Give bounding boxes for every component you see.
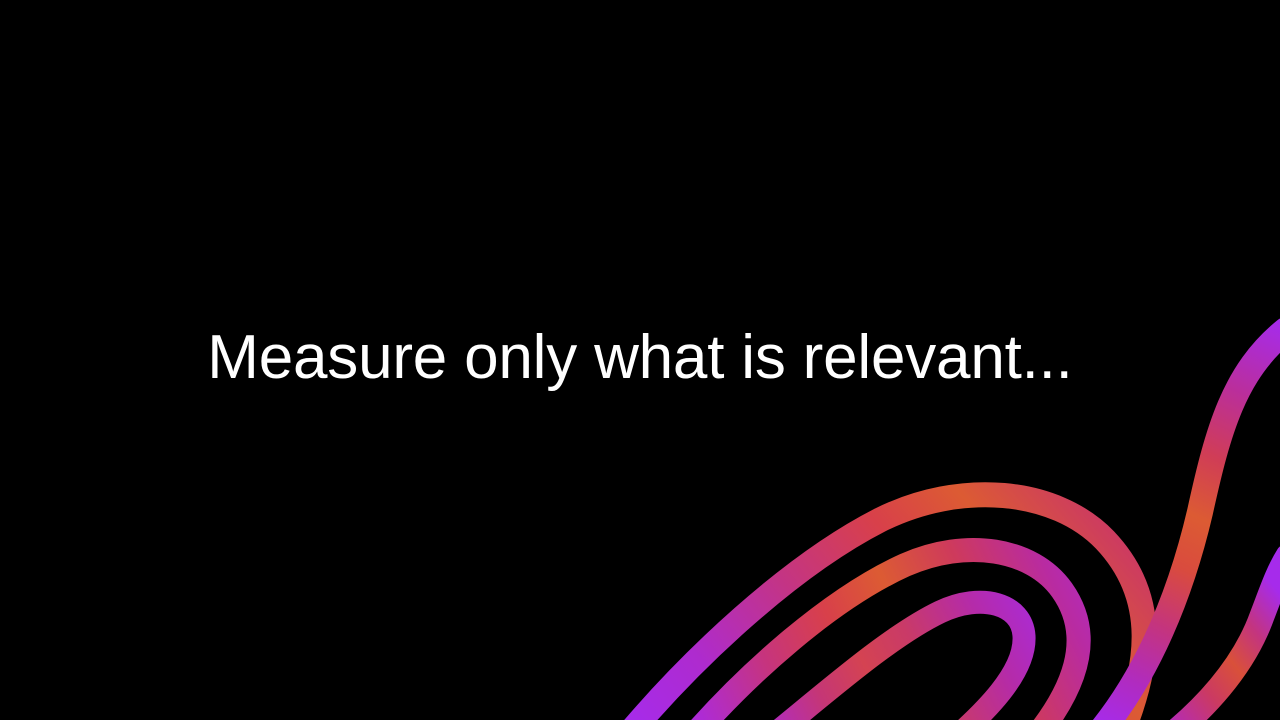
presentation-slide: Measure only what is relevant... bbox=[0, 0, 1280, 720]
gradient-ribbon-decoration bbox=[0, 0, 1280, 720]
